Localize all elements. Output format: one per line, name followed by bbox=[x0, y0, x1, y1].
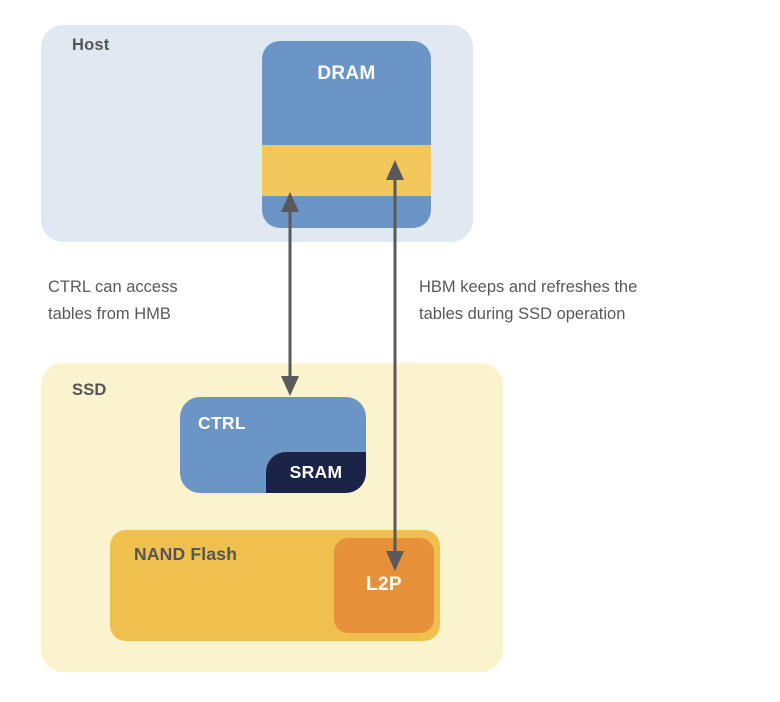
l2p-block: L2P bbox=[334, 538, 434, 633]
nand-flash-block: NAND Flash L2P bbox=[110, 530, 440, 641]
caption-hbm-refresh: HBM keeps and refreshes the tables durin… bbox=[419, 274, 729, 328]
sram-label: SRAM bbox=[266, 462, 366, 483]
caption-ctrl-access: CTRL can access tables from HMB bbox=[48, 274, 278, 328]
dram-block: DRAM bbox=[262, 41, 431, 228]
dram-hmb-band bbox=[262, 145, 431, 196]
controller-label: CTRL bbox=[198, 413, 246, 434]
l2p-label: L2P bbox=[334, 574, 434, 596]
sram-block: SRAM bbox=[266, 452, 366, 493]
ssd-label: SSD bbox=[72, 381, 107, 400]
nand-flash-label: NAND Flash bbox=[134, 544, 237, 565]
diagram-canvas: Host DRAM CTRL can access tables from HM… bbox=[0, 0, 780, 702]
host-label: Host bbox=[72, 36, 109, 55]
dram-label: DRAM bbox=[262, 63, 431, 85]
controller-block: CTRL SRAM bbox=[180, 397, 366, 493]
